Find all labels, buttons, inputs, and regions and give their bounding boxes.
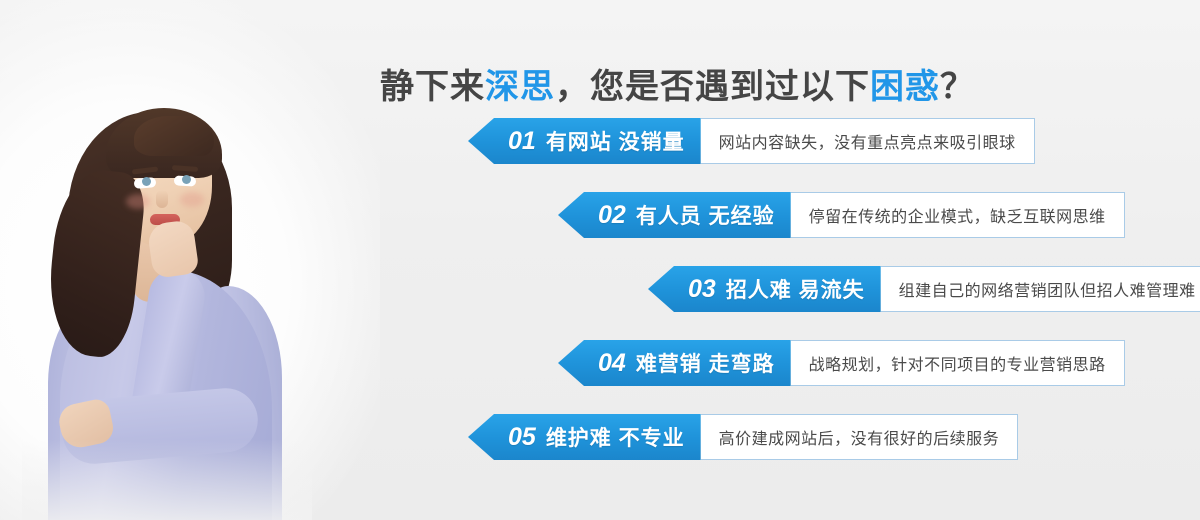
pain-point-title-4: 难营销 走弯路: [636, 348, 775, 378]
pain-point-row-2[interactable]: 02 有人员 无经验 停留在传统的企业模式，缺乏互联网思维: [558, 192, 1125, 238]
pain-point-list: 01 有网站 没销量 网站内容缺失，没有重点亮点来吸引眼球 02 有人员 无经验…: [0, 118, 1200, 488]
list-item: 02 有人员 无经验 停留在传统的企业模式，缺乏互联网思维: [0, 192, 1200, 266]
heading-part-1: 静下来: [380, 68, 485, 106]
pain-point-tab-1[interactable]: 01 有网站 没销量: [468, 118, 701, 164]
pain-point-tab-2[interactable]: 02 有人员 无经验: [558, 192, 791, 238]
pain-point-title-3: 招人难 易流失: [726, 274, 865, 304]
pain-point-tab-5[interactable]: 05 维护难 不专业: [468, 414, 701, 460]
pain-point-description-2: 停留在传统的企业模式，缺乏互联网思维: [791, 192, 1125, 238]
pain-point-tab-3[interactable]: 03 招人难 易流失: [648, 266, 881, 312]
pain-point-description-1: 网站内容缺失，没有重点亮点来吸引眼球: [701, 118, 1035, 164]
pain-point-row-3[interactable]: 03 招人难 易流失 组建自己的网络营销团队但招人难管理难: [648, 266, 1200, 312]
pain-point-number-2: 02: [598, 203, 626, 228]
list-item: 05 维护难 不专业 高价建成网站后，没有很好的后续服务: [0, 414, 1200, 488]
heading-part-3: ？: [940, 68, 975, 106]
list-item: 04 难营销 走弯路 战略规划，针对不同项目的专业营销思路: [0, 340, 1200, 414]
pain-point-number-4: 04: [598, 351, 626, 376]
pain-point-description-5: 高价建成网站后，没有很好的后续服务: [701, 414, 1019, 460]
page-title: 静下来深思，您是否遇到过以下困惑？: [380, 61, 1080, 113]
pain-point-title-5: 维护难 不专业: [546, 422, 685, 452]
pain-point-number-5: 05: [508, 425, 536, 450]
heading-part-2: ，您是否遇到过以下: [555, 68, 870, 106]
pain-point-row-4[interactable]: 04 难营销 走弯路 战略规划，针对不同项目的专业营销思路: [558, 340, 1125, 386]
pain-point-tab-4[interactable]: 04 难营销 走弯路: [558, 340, 791, 386]
pain-point-title-2: 有人员 无经验: [636, 200, 775, 230]
list-item: 01 有网站 没销量 网站内容缺失，没有重点亮点来吸引眼球: [0, 118, 1200, 192]
heading-highlight-1: 深思: [485, 68, 555, 106]
promo-banner: 静下来深思，您是否遇到过以下困惑？ 01 有网站 没销量 网站内容缺失，没有重点…: [0, 0, 1200, 520]
pain-point-title-1: 有网站 没销量: [546, 126, 685, 156]
pain-point-number-1: 01: [508, 129, 536, 154]
pain-point-description-4: 战略规划，针对不同项目的专业营销思路: [791, 340, 1125, 386]
list-item: 03 招人难 易流失 组建自己的网络营销团队但招人难管理难: [0, 266, 1200, 340]
pain-point-row-1[interactable]: 01 有网站 没销量 网站内容缺失，没有重点亮点来吸引眼球: [468, 118, 1035, 164]
heading-highlight-2: 困惑: [870, 68, 940, 106]
pain-point-row-5[interactable]: 05 维护难 不专业 高价建成网站后，没有很好的后续服务: [468, 414, 1018, 460]
pain-point-number-3: 03: [688, 277, 716, 302]
pain-point-description-3: 组建自己的网络营销团队但招人难管理难: [881, 266, 1200, 312]
